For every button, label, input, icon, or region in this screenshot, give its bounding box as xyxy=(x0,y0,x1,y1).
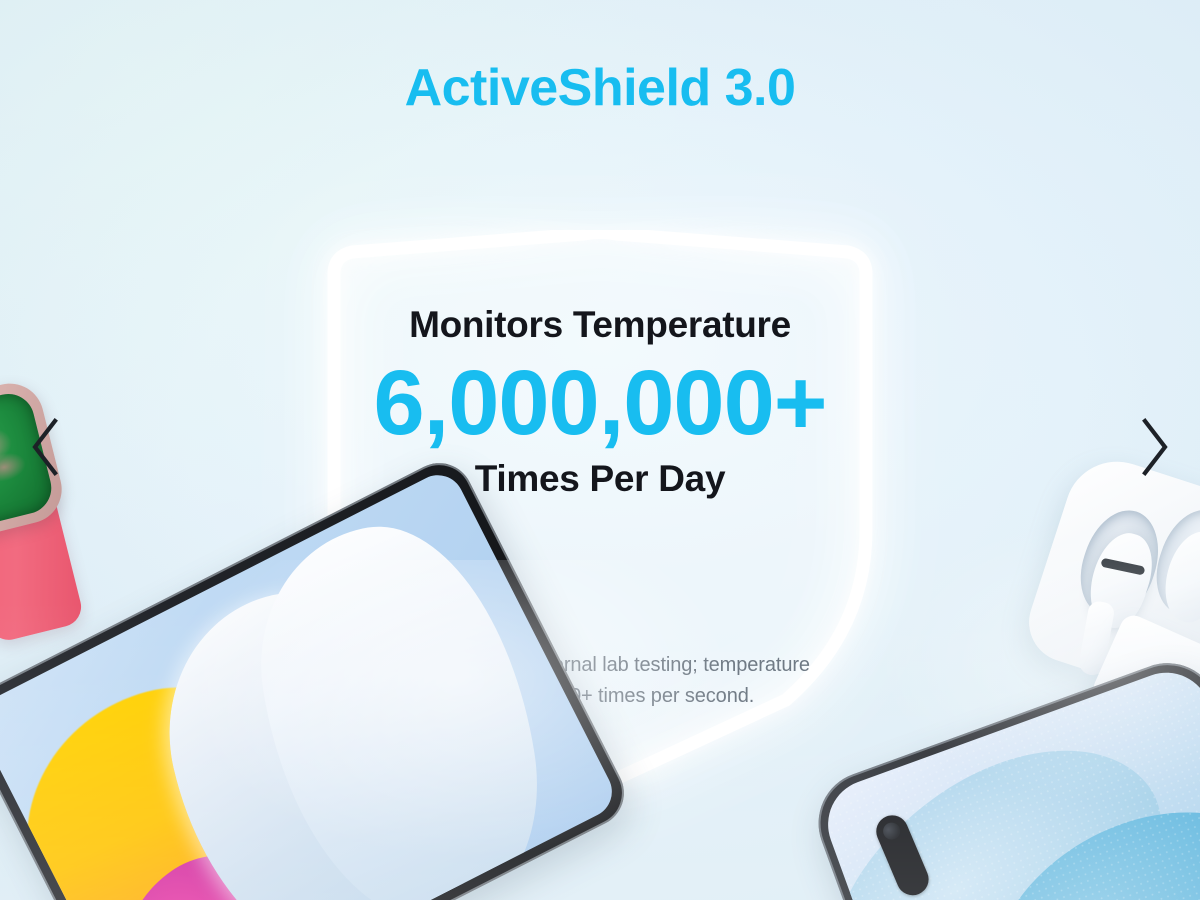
stat-block: Monitors Temperature 6,000,000+ Times Pe… xyxy=(0,305,1200,499)
carousel-prev-button[interactable] xyxy=(26,416,66,478)
stat-label-bottom: Times Per Day xyxy=(0,459,1200,500)
chevron-left-icon xyxy=(26,416,66,478)
page-title: ActiveShield 3.0 xyxy=(0,58,1200,118)
chevron-right-icon xyxy=(1134,416,1174,478)
stat-number: 6,000,000+ xyxy=(0,352,1200,455)
carousel-next-button[interactable] xyxy=(1134,416,1174,478)
promo-banner: ActiveShield 3.0 Monitors Temperature 6,… xyxy=(0,0,1200,900)
stat-label-top: Monitors Temperature xyxy=(0,305,1200,346)
